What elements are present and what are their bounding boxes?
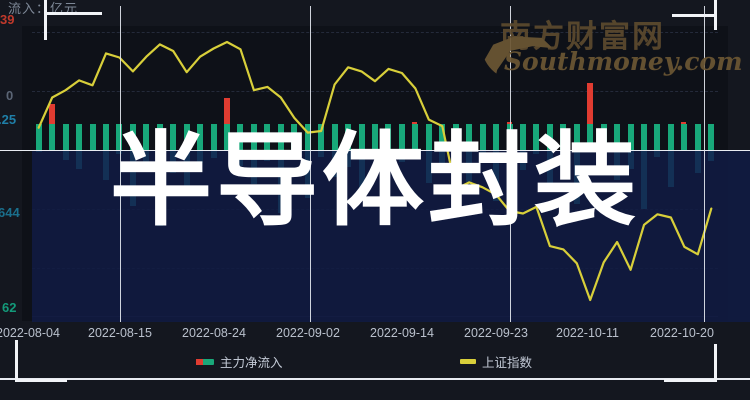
crop-mark-top-right — [672, 14, 717, 17]
legend-item[interactable]: 上证指数 — [460, 352, 532, 371]
y-axis-tick-label: 62 — [2, 300, 16, 315]
legend-label: 主力净流入 — [220, 352, 283, 371]
crop-mark-bottom-left — [15, 379, 67, 382]
chart-header-strip: 流入：亿元 39 — [0, 0, 750, 26]
crop-mark-bottom-right — [664, 379, 717, 382]
chart-legend: 主力净流入上证指数 — [0, 352, 750, 378]
crop-mark-top-left — [44, 0, 47, 40]
x-axis-tick-label: 2022-09-14 — [370, 326, 434, 340]
legend-item[interactable]: 主力净流入 — [196, 352, 283, 371]
legend-swatch-icon — [196, 359, 214, 365]
x-axis: 2022-08-042022-08-152022-08-242022-09-02… — [0, 322, 750, 348]
header-red-value: 39 — [0, 12, 14, 27]
page-title: 半导体封装 — [0, 131, 750, 233]
x-axis-tick-label: 2022-08-04 — [0, 326, 60, 340]
y-axis-tick-label: .25 — [0, 112, 16, 127]
x-axis-tick-label: 2022-09-02 — [276, 326, 340, 340]
x-axis-tick-label: 2022-09-23 — [464, 326, 528, 340]
bottom-divider — [0, 378, 750, 380]
y-axis-tick-label: 0 — [6, 88, 13, 103]
x-axis-tick-label: 2022-08-15 — [88, 326, 152, 340]
x-axis-tick-label: 2022-10-20 — [650, 326, 714, 340]
crop-mark-bottom-left — [15, 340, 18, 382]
crop-mark-top-left — [44, 12, 102, 15]
legend-swatch-icon — [460, 359, 476, 364]
legend-label: 上证指数 — [482, 352, 532, 371]
screenshot-root: 流入：亿元 39 0.2564462 南方财富网 Southmoney — [0, 0, 750, 400]
x-axis-tick-label: 2022-10-11 — [556, 326, 619, 340]
crop-mark-bottom-right — [714, 344, 717, 382]
x-axis-tick-label: 2022-08-24 — [182, 326, 246, 340]
